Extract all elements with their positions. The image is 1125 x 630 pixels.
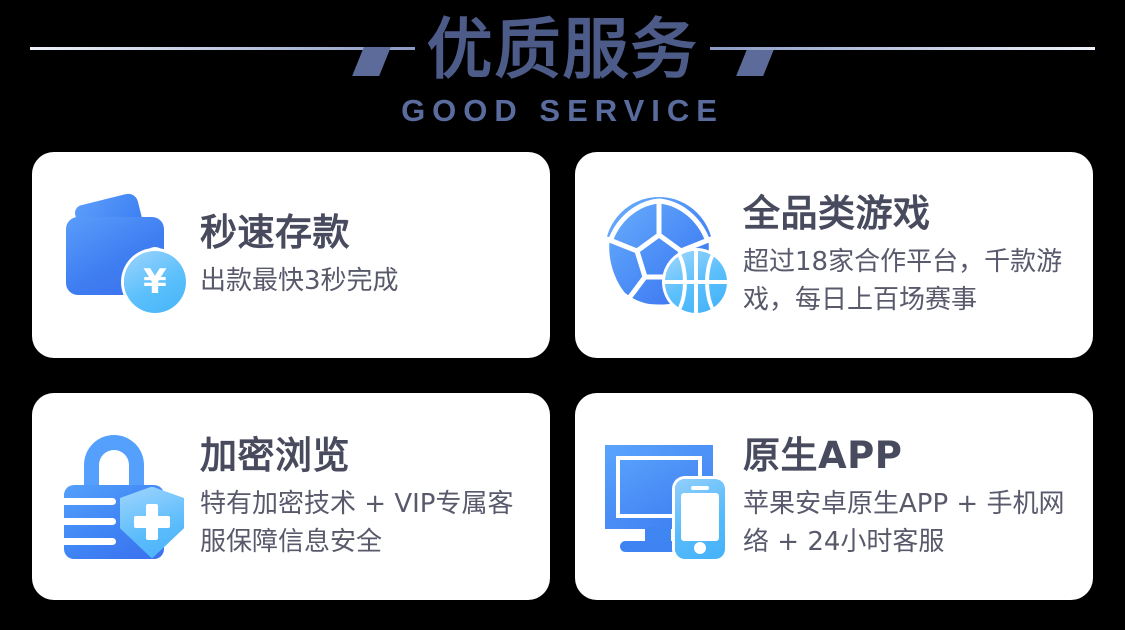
card-text: 原生APP 苹果安卓原生APP + 手机网络 + 24小时客服	[743, 433, 1075, 561]
phone-speaker	[691, 486, 709, 490]
promo-banner: 优质服务 GOOD SERVICE ¥ 秒速存款 出款最快3秒完成	[0, 0, 1125, 630]
basketball-curve-left	[665, 251, 687, 313]
page-title: 优质服务	[0, 0, 1125, 90]
card-title: 加密浏览	[200, 433, 532, 479]
feature-card-deposit[interactable]: ¥ 秒速存款 出款最快3秒完成	[32, 152, 550, 358]
header: 优质服务 GOOD SERVICE	[0, 0, 1125, 150]
lock-shield-icon	[58, 431, 190, 563]
card-description: 超过18家合作平台，千款游戏，每日上百场赛事	[743, 243, 1073, 319]
soccer-basketball-icon	[601, 189, 733, 321]
card-description: 出款最快3秒完成	[200, 262, 532, 300]
yen-coin-icon: ¥	[124, 251, 186, 313]
monitor-phone-icon	[601, 431, 733, 563]
wallet-coin-icon: ¥	[58, 189, 190, 321]
card-text: 秒速存款 出款最快3秒完成	[200, 210, 532, 300]
phone-screen	[681, 493, 719, 541]
feature-card-grid: ¥ 秒速存款 出款最快3秒完成	[32, 152, 1093, 600]
lock-stripe	[64, 518, 116, 525]
feature-card-encryption[interactable]: 加密浏览 特有加密技术 + VIP专属客服保障信息安全	[32, 393, 550, 600]
card-title: 全品类游戏	[743, 191, 1075, 237]
page-subtitle: GOOD SERVICE	[0, 90, 1125, 128]
card-title: 原生APP	[743, 433, 1075, 479]
basketball-curve-right	[705, 251, 727, 313]
card-title: 秒速存款	[200, 210, 532, 256]
shield-plus-icon	[120, 487, 184, 559]
plus-horizontal	[134, 516, 170, 528]
phone-home-button	[694, 542, 706, 554]
title-block: 优质服务 GOOD SERVICE	[0, 0, 1125, 128]
lock-stripe	[64, 498, 116, 505]
basketball-icon	[665, 251, 727, 313]
card-description: 特有加密技术 + VIP专属客服保障信息安全	[200, 485, 530, 561]
lock-stripe	[64, 538, 116, 545]
feature-card-games[interactable]: 全品类游戏 超过18家合作平台，千款游戏，每日上百场赛事	[575, 152, 1093, 358]
card-text: 加密浏览 特有加密技术 + VIP专属客服保障信息安全	[200, 433, 532, 561]
smartphone-icon	[675, 479, 725, 559]
yen-symbol: ¥	[143, 265, 167, 299]
feature-card-native-app[interactable]: 原生APP 苹果安卓原生APP + 手机网络 + 24小时客服	[575, 393, 1093, 600]
card-description: 苹果安卓原生APP + 手机网络 + 24小时客服	[743, 485, 1073, 561]
card-text: 全品类游戏 超过18家合作平台，千款游戏，每日上百场赛事	[743, 191, 1075, 319]
